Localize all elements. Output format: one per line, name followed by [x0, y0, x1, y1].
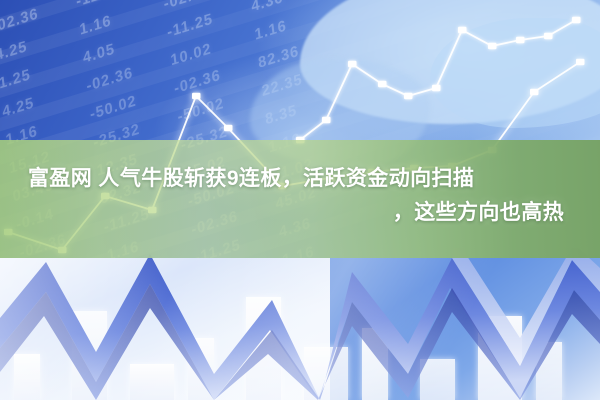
chart-node-marker — [516, 37, 525, 43]
chart-node-marker — [378, 81, 387, 87]
chart-node-marker — [404, 93, 413, 99]
chart-node-marker — [488, 43, 497, 49]
lower-sheen-overlay — [0, 258, 600, 400]
chart-node-marker — [530, 89, 539, 95]
chart-node-marker — [192, 93, 201, 99]
back-line-series — [296, 17, 581, 143]
headline-line-1: 富盈网 人气牛股斩获9连板，活跃资金动向扫描 — [28, 167, 474, 190]
chart-node-marker — [576, 59, 585, 65]
chart-node-marker — [432, 85, 441, 91]
chart-node-marker — [572, 17, 581, 23]
chart-node-marker — [224, 125, 233, 131]
headline-line-2: ，这些方向也高热 — [28, 196, 574, 230]
news-thumbnail-image: -50.02-02.36-11.25-50.0221.022.364.251.1… — [0, 0, 600, 400]
chart-node-marker — [544, 33, 553, 39]
chart-line — [300, 20, 576, 140]
chart-node-marker — [458, 27, 467, 33]
headline-text: 富盈网 人气牛股斩获9连板，活跃资金动向扫描 ，这些方向也高热 — [28, 162, 574, 230]
chart-node-marker — [322, 117, 331, 123]
chart-node-marker — [348, 61, 357, 67]
